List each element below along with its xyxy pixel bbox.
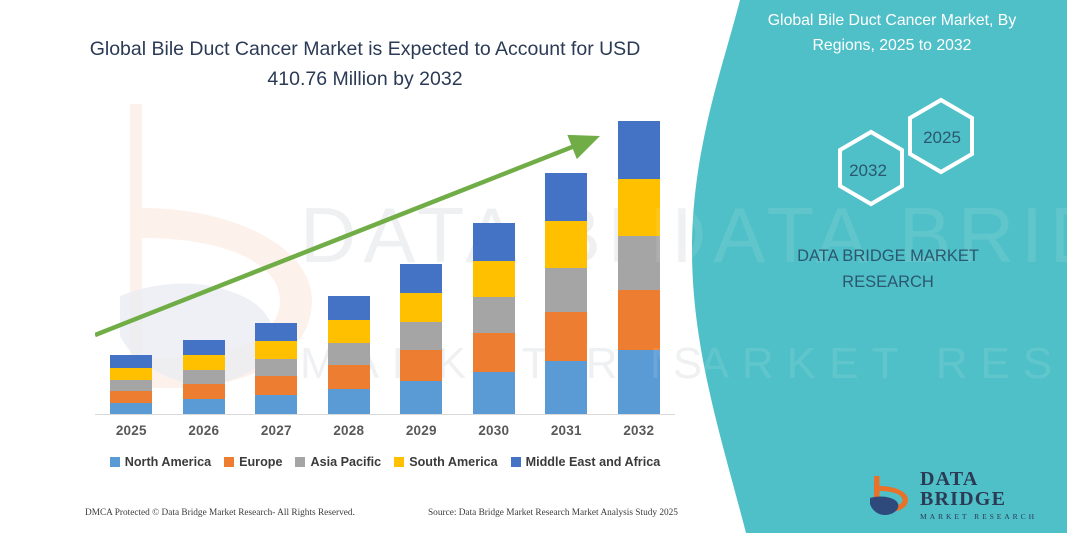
bar-2029 [400,264,442,415]
teal-panel-content: Global Bile Duct Cancer Market, By Regio… [660,0,1067,533]
bar-segment-asia-pacific [545,268,587,313]
x-label-2027: 2027 [246,423,306,438]
bar-segment-north-america [545,361,587,415]
x-label-2030: 2030 [464,423,524,438]
bar-segment-middle-east-and-africa [545,173,587,221]
bar-segment-south-america [255,341,297,359]
brand-name-text: DATA BRIDGE MARKET RESEARCH [738,243,1038,295]
bar-segment-middle-east-and-africa [255,323,297,341]
bar-2025 [110,355,152,415]
bar-2027 [255,323,297,415]
bar-segment-asia-pacific [255,359,297,376]
bar-2028 [328,296,370,415]
bar-segment-middle-east-and-africa [328,296,370,320]
bar-segment-europe [473,333,515,372]
legend-label: Europe [239,455,282,469]
legend-swatch-icon [110,457,120,467]
logo-wordmark: DATA BRIDGE MARKET RESEARCH [920,469,1048,521]
bar-segment-south-america [183,355,225,370]
bar-segment-south-america [545,221,587,268]
stacked-bar-chart [95,120,675,415]
x-label-2026: 2026 [174,423,234,438]
bar-segment-asia-pacific [400,322,442,350]
bar-segment-north-america [618,350,660,415]
bar-segment-south-america [473,261,515,298]
bar-segment-south-america [400,293,442,322]
bar-segment-south-america [618,179,660,236]
bar-segment-asia-pacific [473,297,515,333]
legend-item-north-america[interactable]: North America [110,455,211,469]
legend-item-europe[interactable]: Europe [224,455,282,469]
brand-line-2: RESEARCH [842,273,934,291]
bar-segment-europe [618,290,660,350]
bar-segment-asia-pacific [183,370,225,384]
copyright-text: DMCA Protected © Data Bridge Market Rese… [85,508,355,518]
hexagon-2032-label: 2032 [834,161,902,181]
bar-2031 [545,173,587,415]
bar-segment-north-america [400,381,442,415]
x-label-2025: 2025 [101,423,161,438]
legend-label: Middle East and Africa [526,455,661,469]
legend-item-asia-pacific[interactable]: Asia Pacific [295,455,381,469]
x-label-2028: 2028 [319,423,379,438]
plot-area [95,120,675,415]
bar-segment-middle-east-and-africa [183,340,225,355]
brand-line-1: DATA BRIDGE MARKET [797,247,979,265]
hexagon-2025-label: 2025 [908,128,976,148]
page-title: Global Bile Duct Cancer Market is Expect… [70,34,660,94]
bar-segment-north-america [183,399,225,415]
x-axis-line [95,414,675,415]
bar-segment-middle-east-and-africa [618,121,660,179]
bar-segment-europe [545,312,587,361]
legend-swatch-icon [295,457,305,467]
bar-segment-middle-east-and-africa [473,223,515,261]
data-bridge-logo: DATA BRIDGE MARKET RESEARCH [868,472,1048,518]
bar-segment-asia-pacific [328,343,370,365]
bar-segment-europe [328,365,370,389]
bar-segment-north-america [473,372,515,415]
bar-segment-north-america [328,389,370,415]
bar-segment-europe [183,384,225,399]
bar-2032 [618,121,660,415]
legend-label: Asia Pacific [310,455,381,469]
source-text: Source: Data Bridge Market Research Mark… [428,508,678,518]
chart-legend: North AmericaEuropeAsia PacificSouth Ame… [95,455,675,469]
logo-sub-text: MARKET RESEARCH [920,513,1048,521]
bar-segment-asia-pacific [110,380,152,391]
bar-segment-south-america [328,320,370,343]
bar-segment-middle-east-and-africa [400,264,442,294]
bar-2026 [183,340,225,415]
bar-segment-europe [400,350,442,381]
x-label-2031: 2031 [536,423,596,438]
bar-segment-north-america [255,395,297,415]
chart-panel: DATA BRIDGE MARKET RESEARCH Global Bile … [0,0,720,533]
bar-segment-asia-pacific [618,236,660,291]
bar-segment-europe [110,391,152,403]
legend-swatch-icon [394,457,404,467]
legend-swatch-icon [224,457,234,467]
bar-segment-south-america [110,368,152,380]
x-axis-labels: 20252026202720282029203020312032 [95,423,675,445]
logo-main-text: DATA BRIDGE [920,469,1048,509]
bar-segment-europe [255,376,297,395]
legend-swatch-icon [511,457,521,467]
bar-2030 [473,223,515,415]
legend-item-middle-east-and-africa[interactable]: Middle East and Africa [511,455,661,469]
bar-segment-middle-east-and-africa [110,355,152,368]
x-label-2029: 2029 [391,423,451,438]
legend-label: South America [409,455,497,469]
infographic-root: DATA BRIDGE MARKET RESEARCH Global Bile … [0,0,1067,533]
logo-bridge-icon [868,474,912,516]
legend-label: North America [125,455,211,469]
legend-item-south-america[interactable]: South America [394,455,497,469]
